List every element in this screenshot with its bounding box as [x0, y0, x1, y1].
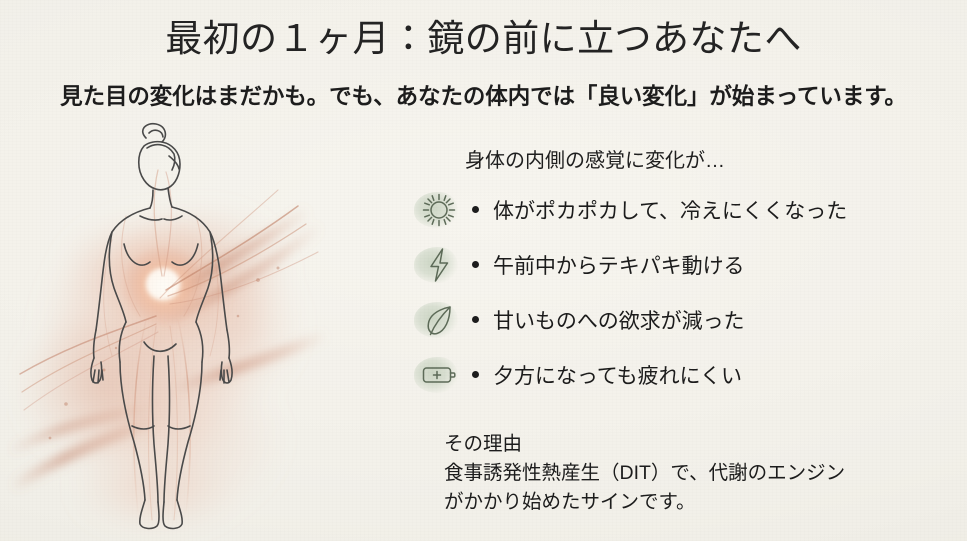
bullet-icon-wrap [406, 296, 472, 344]
list-item: 甘いものへの欲求が減った [406, 292, 967, 347]
bullet-text: 甘いものへの欲求が減った [493, 305, 745, 335]
bullet-text: 夕方になっても疲れにくい [493, 360, 742, 390]
reason-line-3: がかかり始めたサインです。 [444, 488, 845, 517]
illustration-figure [6, 120, 336, 541]
bullet-text: 体がポカポカして、冷えにくくなった [493, 195, 847, 225]
battery-plus-icon [419, 355, 459, 395]
page-title: 最初の１ヶ月：鏡の前に立つあなたへ [0, 8, 967, 62]
list-item: 体がポカポカして、冷えにくくなった [406, 182, 967, 237]
bullet-icon-wrap [406, 241, 472, 289]
reason-line-1: その理由 [444, 430, 845, 459]
figure-svg [6, 120, 336, 541]
bullet-icon-wrap [406, 351, 472, 399]
lightning-icon [419, 245, 459, 285]
bullet-dot [472, 261, 479, 268]
content-column: 身体の内側の感覚に変化が… [406, 136, 967, 541]
sun-icon [419, 190, 459, 230]
bullet-icon-wrap [406, 186, 472, 234]
bullet-dot [472, 371, 479, 378]
bullet-dot [472, 316, 479, 323]
list-item: 夕方になっても疲れにくい [406, 347, 967, 402]
reason-line-2: 食事誘発性熱産生（DIT）で、代謝のエンジン [444, 459, 845, 488]
reason-block: その理由 食事誘発性熱産生（DIT）で、代謝のエンジン がかかり始めたサインです… [444, 430, 845, 517]
benefits-list: 体がポカポカして、冷えにくくなった 午前中からテキパキ動ける [406, 182, 967, 402]
page-subtitle: 見た目の変化はまだかも。でも、あなたの体内では「良い変化」が始まっています。 [0, 79, 967, 111]
leaf-icon [419, 300, 459, 340]
list-item: 午前中からテキパキ動ける [406, 237, 967, 292]
bullet-text: 午前中からテキパキ動ける [493, 250, 745, 280]
slide-canvas: 最初の１ヶ月：鏡の前に立つあなたへ 見た目の変化はまだかも。でも、あなたの体内で… [0, 0, 967, 541]
content-lead: 身体の内側の感覚に変化が… [465, 144, 725, 173]
bullet-dot [472, 206, 479, 213]
